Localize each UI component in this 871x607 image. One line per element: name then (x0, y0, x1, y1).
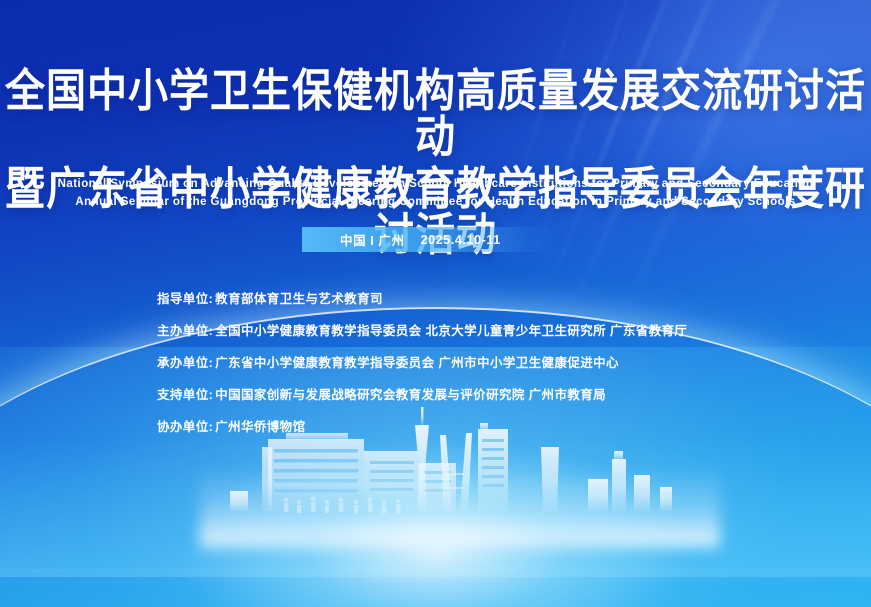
subtitle-line-1: National Symposium on Advancing Quality … (0, 176, 871, 194)
org-label: 指导单位: (157, 288, 213, 307)
org-row: 指导单位: 教育部体育卫生与艺术教育司 (157, 288, 797, 307)
organization-list: 指导单位: 教育部体育卫生与艺术教育司 主办单位: 全国中小学健康教育教学指导委… (157, 288, 797, 448)
conference-poster: 全国中小学卫生保健机构高质量发展交流研讨活动 暨广东省中小学健康教育教学指导委员… (0, 0, 871, 607)
org-row: 协办单位: 广州华侨博物馆 (157, 416, 797, 435)
org-row: 主办单位: 全国中小学健康教育教学指导委员会 北京大学儿童青少年卫生研究所 广东… (157, 320, 797, 339)
org-label: 承办单位: (157, 352, 213, 371)
subtitle-line-2: Annual Seminar of the Guangdong Provinci… (0, 194, 871, 212)
poster-subtitle: National Symposium on Advancing Quality … (0, 176, 871, 212)
org-row: 承办单位: 广东省中小学健康教育教学指导委员会 广州市中小学卫生健康促进中心 (157, 352, 797, 371)
org-label: 协办单位: (157, 416, 213, 435)
title-line-1: 全国中小学卫生保健机构高质量发展交流研讨活动 (0, 69, 871, 160)
date-location-banner: 中国 I 广州 2025.4.10-11 (302, 227, 560, 252)
org-row: 支持单位: 中国国家创新与发展战略研究会教育发展与评价研究院 广州市教育局 (157, 384, 797, 403)
org-label: 支持单位: (157, 384, 213, 403)
org-value: 全国中小学健康教育教学指导委员会 北京大学儿童青少年卫生研究所 广东省教育厅 (215, 320, 687, 339)
org-label: 主办单位: (157, 320, 213, 339)
org-value: 中国国家创新与发展战略研究会教育发展与评价研究院 广州市教育局 (215, 384, 606, 403)
org-value: 教育部体育卫生与艺术教育司 (215, 288, 383, 307)
event-date: 2025.4.10-11 (421, 233, 501, 247)
org-value: 广东省中小学健康教育教学指导委员会 广州市中小学卫生健康促进中心 (215, 352, 619, 371)
event-location: 中国 I 广州 (340, 230, 405, 249)
org-value: 广州华侨博物馆 (215, 416, 305, 435)
center-ground-glow (176, 440, 696, 607)
